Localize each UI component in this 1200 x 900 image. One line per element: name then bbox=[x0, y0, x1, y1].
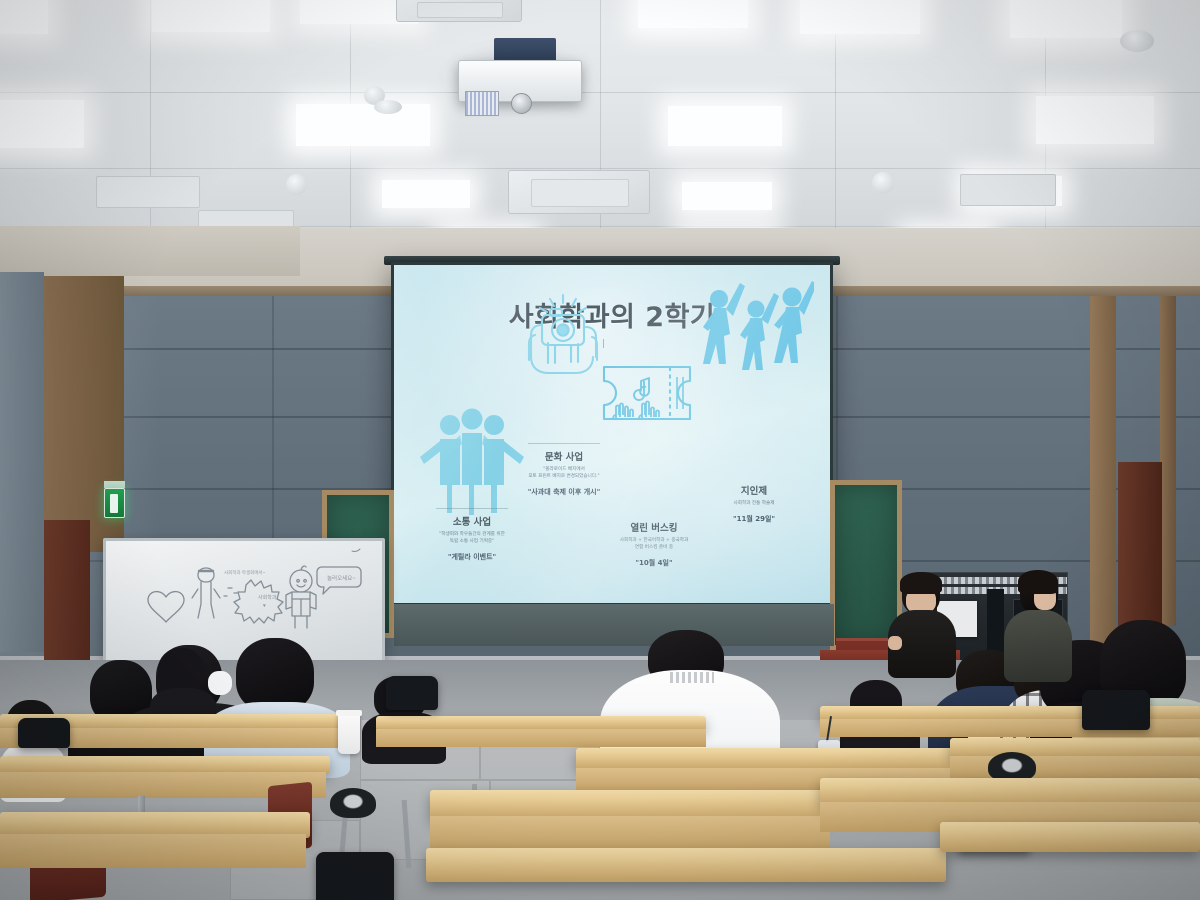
student-light-blue bbox=[204, 638, 354, 768]
coffee-cup[interactable] bbox=[338, 712, 360, 754]
presenter-standing bbox=[1004, 572, 1074, 680]
torso bbox=[1004, 610, 1072, 682]
left-wall-return bbox=[0, 272, 44, 652]
ceiling-ac-unit bbox=[508, 170, 650, 214]
column-heading: 소통 사업 bbox=[408, 514, 536, 528]
ceiling-speaker bbox=[1120, 30, 1154, 52]
camera-in-hands-icon bbox=[514, 281, 610, 385]
column-subtext: 사회학과 + 한국어학과 + 중국학과 연합 버스킹 준비 중 bbox=[586, 537, 722, 551]
chair-cushion bbox=[330, 788, 376, 818]
slide-column-2: 문화 사업 "폴라로이드 배지에서 포토 프린트 배지로 변경되었습니다." "… bbox=[500, 443, 628, 497]
ceiling bbox=[0, 0, 1200, 262]
column-quote: "게릴라 이벤트" bbox=[408, 552, 536, 562]
divider bbox=[528, 443, 600, 444]
divider bbox=[436, 508, 508, 509]
column-subtext: 사회학과 전통 학술제 bbox=[690, 500, 818, 507]
projector-body bbox=[458, 60, 582, 102]
ceiling-light-panel bbox=[296, 104, 430, 146]
column-subtext: "학생회와 학우들간의 관계를 위한 독립 소통 사업 기획중" bbox=[408, 531, 536, 545]
ceiling-light-panel bbox=[800, 0, 920, 34]
dancing-people-icon bbox=[694, 275, 814, 395]
cup-lid bbox=[336, 710, 362, 716]
hand bbox=[888, 636, 902, 650]
desk-row-bottom-right bbox=[940, 822, 1200, 852]
backpack-small[interactable] bbox=[1082, 690, 1150, 730]
backpack[interactable] bbox=[316, 852, 394, 900]
desk-row-mid-right bbox=[576, 748, 956, 770]
desk-row-right-mid bbox=[950, 738, 1200, 758]
desk-front-panel bbox=[0, 834, 306, 868]
wall-wood-column bbox=[1090, 296, 1116, 646]
svg-text:사회학과: 사회학과 bbox=[258, 594, 277, 601]
svg-text:놀러오세요~: 놀러오세요~ bbox=[327, 574, 356, 582]
ceiling-speaker bbox=[872, 172, 894, 194]
hair bbox=[900, 572, 942, 594]
desk-item-dark[interactable] bbox=[386, 676, 438, 710]
column-quote: "10월 4일" bbox=[586, 558, 722, 568]
ceiling-light-panel bbox=[1010, 0, 1122, 38]
exit-sign-mount bbox=[104, 481, 125, 488]
door-left[interactable] bbox=[44, 520, 90, 670]
projection-screen[interactable]: 사회학과의 2학기 bbox=[394, 265, 830, 603]
ceiling-spotlight bbox=[374, 100, 402, 114]
hair bbox=[1018, 570, 1058, 594]
presenter-with-microphone bbox=[886, 574, 960, 678]
projector-lens bbox=[511, 93, 532, 114]
ceiling-light-panel bbox=[668, 106, 782, 146]
column-heading: 지인제 bbox=[690, 483, 818, 497]
ceiling-ac-unit bbox=[396, 0, 522, 22]
desk-front-panel bbox=[430, 816, 830, 850]
ceiling-light-panel bbox=[1036, 96, 1154, 144]
head bbox=[236, 638, 314, 712]
left-upper-wall bbox=[0, 226, 300, 276]
slide-column-3: 열린 버스킹 사회학과 + 한국어학과 + 중국학과 연합 버스킹 준비 중 "… bbox=[586, 520, 722, 568]
slide-column-1: 소통 사업 "학생회와 학우들간의 관계를 위한 독립 소통 사업 기획중" "… bbox=[408, 508, 536, 562]
ceiling-vent bbox=[96, 176, 200, 208]
column-heading: 문화 사업 bbox=[500, 449, 628, 463]
svg-text:♥: ♥ bbox=[263, 603, 266, 609]
collar-label bbox=[670, 672, 714, 683]
column-quote: "11월 29일" bbox=[690, 514, 818, 524]
backpack-small[interactable] bbox=[18, 718, 70, 748]
ceiling-speaker bbox=[286, 174, 307, 195]
ceiling-light-panel bbox=[152, 0, 270, 32]
column-quote: "사과대 축제 이후 개시" bbox=[500, 487, 628, 497]
desk-row-bottom bbox=[426, 848, 946, 882]
desk-front-panel bbox=[376, 729, 706, 747]
ceiling-vent bbox=[960, 174, 1056, 206]
ceiling-light-panel bbox=[0, 100, 84, 148]
projector-vent bbox=[465, 91, 499, 116]
ceiling-light-panel bbox=[682, 182, 772, 210]
lecture-hall-photo: 사회학과의 2학기 bbox=[0, 0, 1200, 900]
emergency-exit-sign bbox=[104, 488, 125, 518]
slide-column-4: 지인제 사회학과 전통 학술제 "11월 29일" bbox=[690, 483, 818, 524]
ceiling-light-panel bbox=[382, 180, 470, 208]
column-subtext: "폴라로이드 배지에서 포토 프린트 배지로 변경되었습니다." bbox=[500, 466, 628, 480]
ceiling-light-panel bbox=[638, 0, 748, 28]
busking-ticket-icon bbox=[600, 357, 694, 429]
wall-wood-column bbox=[1160, 296, 1176, 626]
svg-text:사회학과 학생회에서~: 사회학과 학생회에서~ bbox=[224, 569, 266, 576]
ceiling-light-panel bbox=[0, 0, 48, 34]
